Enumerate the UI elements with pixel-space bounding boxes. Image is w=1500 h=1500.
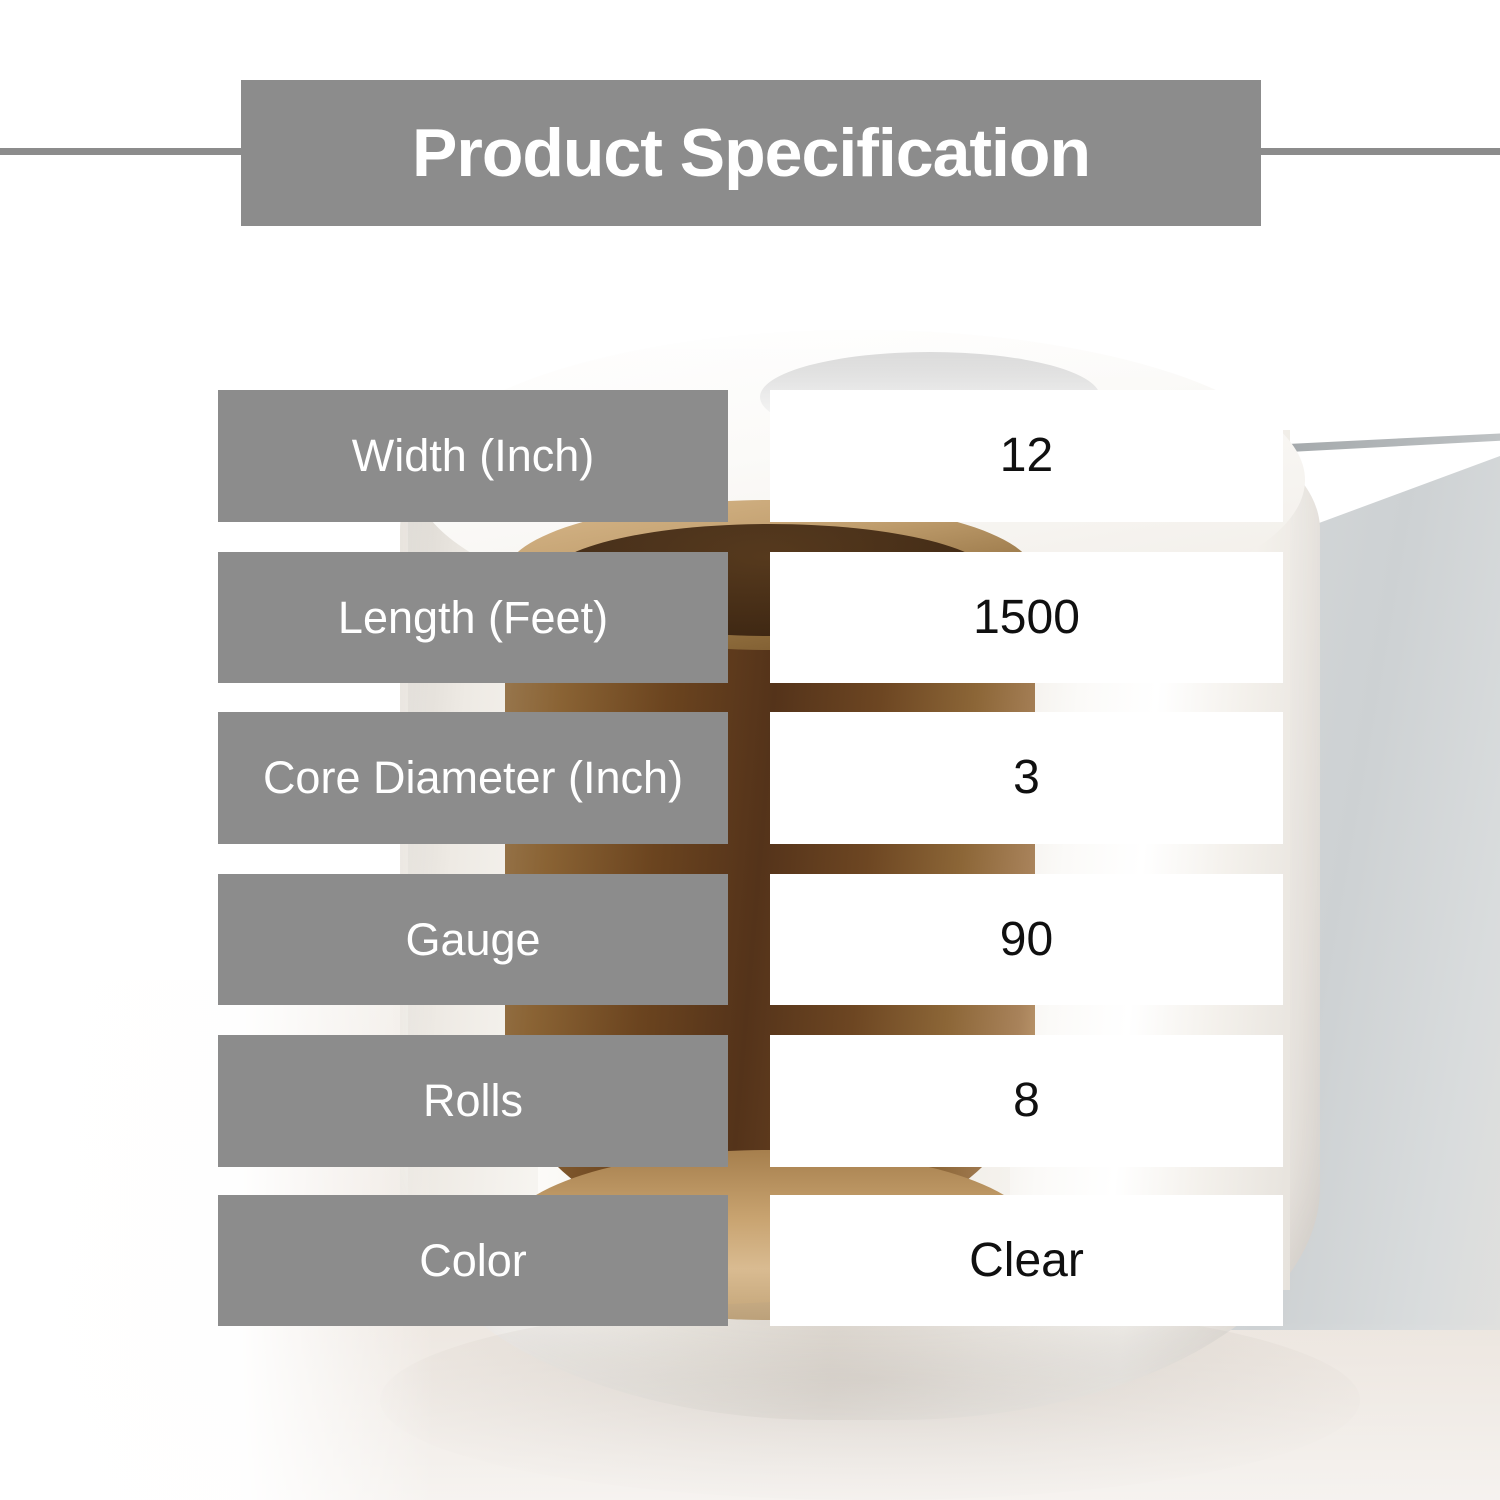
spec-value-text: 12 [1000, 432, 1053, 480]
spec-label-text: Core Diameter (Inch) [263, 754, 683, 802]
spec-label-text: Gauge [405, 916, 540, 964]
spec-label-width-inch: Width (Inch) [218, 390, 728, 522]
spec-value-rolls: 8 [770, 1035, 1283, 1167]
spec-value-gauge: 90 [770, 874, 1283, 1005]
spec-value-text: Clear [969, 1237, 1084, 1285]
spec-value-length-feet: 1500 [770, 552, 1283, 683]
spec-label-text: Rolls [423, 1077, 523, 1125]
spec-label-text: Length (Feet) [338, 594, 608, 642]
spec-value-text: 3 [1013, 754, 1040, 802]
spec-value-text: 90 [1000, 916, 1053, 964]
spec-value-text: 8 [1013, 1077, 1040, 1125]
spec-label-color: Color [218, 1195, 728, 1326]
spec-label-length-feet: Length (Feet) [218, 552, 728, 683]
spec-value-core-diameter-inch: 3 [770, 712, 1283, 844]
spec-value-color: Clear [770, 1195, 1283, 1326]
specification-table: Width (Inch) 12 Length (Feet) 1500 Core … [0, 0, 1500, 1500]
spec-label-text: Width (Inch) [352, 432, 595, 480]
spec-label-core-diameter-inch: Core Diameter (Inch) [218, 712, 728, 844]
spec-value-text: 1500 [973, 594, 1080, 642]
spec-value-width-inch: 12 [770, 390, 1283, 522]
spec-label-text: Color [419, 1237, 527, 1285]
spec-label-rolls: Rolls [218, 1035, 728, 1167]
product-specification-page: Product Specification Width (Inch) 12 Le… [0, 0, 1500, 1500]
spec-label-gauge: Gauge [218, 874, 728, 1005]
